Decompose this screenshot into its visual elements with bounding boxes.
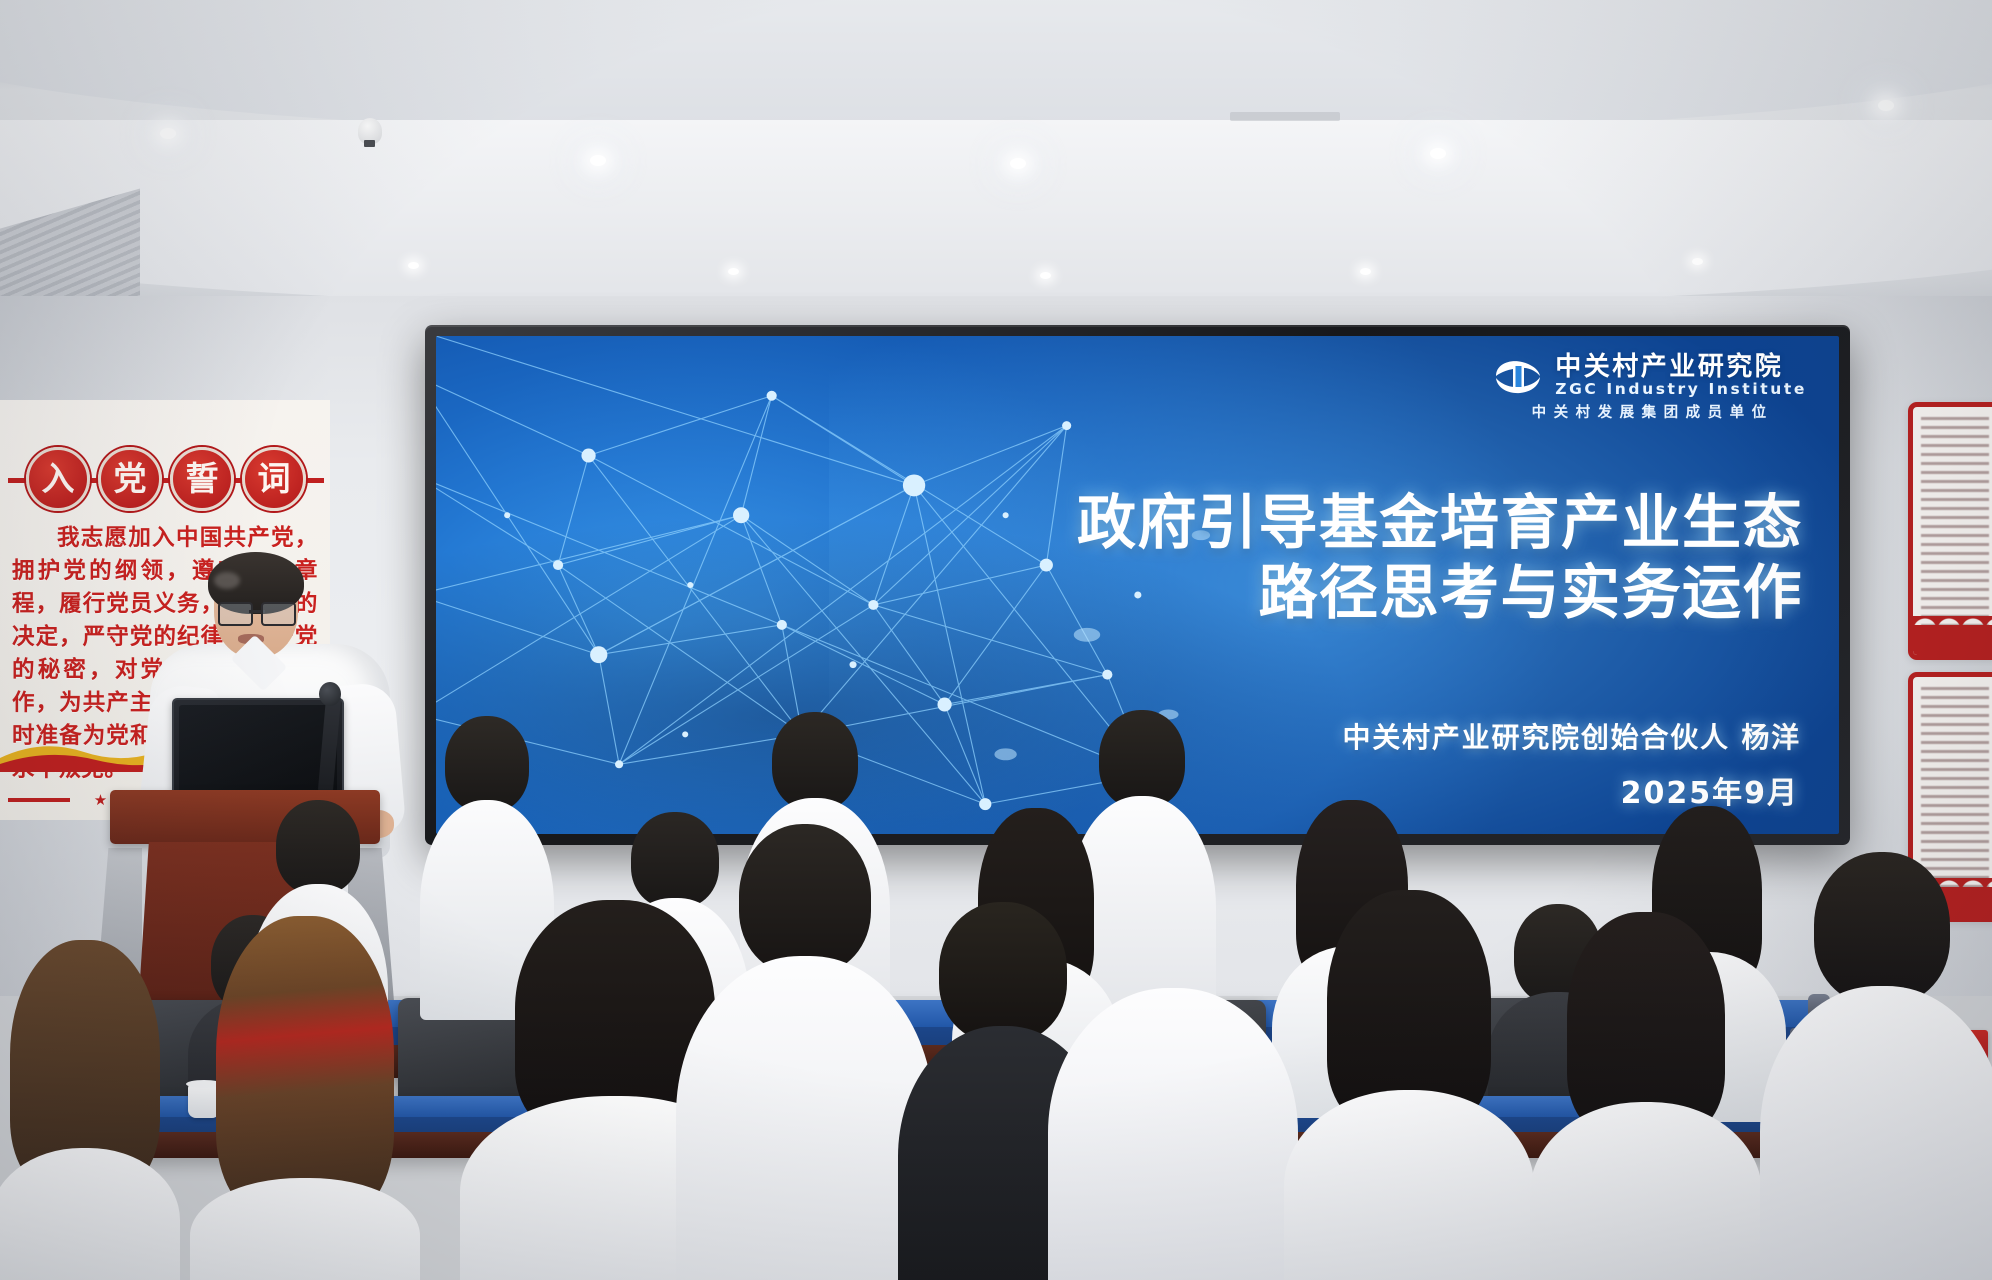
- right-poster-upper: [1908, 402, 1992, 660]
- logo-primary-row: 中关村产业研究院 ZGC Industry Institute: [1492, 354, 1807, 398]
- ceiling-downlight: [1692, 258, 1703, 265]
- ceiling-downlight: [590, 155, 606, 166]
- slide-title-line-1: 政府引导基金培育产业生态: [1077, 488, 1803, 558]
- person-body: [676, 956, 934, 1280]
- person-body: [1284, 1090, 1534, 1280]
- person-body: [190, 1178, 420, 1280]
- ceiling-downlight: [728, 268, 739, 275]
- ceiling-curve-outer: [0, 0, 1992, 140]
- smoke-detector-icon: [358, 118, 382, 144]
- zgc-logo: 中关村产业研究院 ZGC Industry Institute 中关村发展集团成…: [1492, 354, 1807, 422]
- person-body: [1760, 986, 1992, 1280]
- oath-poster-title: 入 党 誓 词: [26, 448, 306, 510]
- ceiling: [0, 0, 1992, 300]
- person-head: [445, 716, 529, 812]
- audience-member-front: [190, 916, 420, 1280]
- ceiling-downlight: [1430, 148, 1446, 159]
- ceiling-downlight: [1040, 272, 1051, 279]
- person-head: [276, 800, 360, 894]
- person-head: [739, 824, 871, 974]
- logo-affiliation: 中关村发展集团成员单位: [1526, 401, 1774, 422]
- person-head: [1106, 856, 1240, 1006]
- ceiling-downlight: [1878, 100, 1894, 111]
- ceiling-downlight: [1010, 158, 1026, 169]
- audience-member-front: [1048, 856, 1298, 1280]
- oath-title-char-4: 词: [242, 447, 306, 511]
- star-icon: ★: [94, 793, 107, 808]
- ceiling-downlight: [1360, 268, 1371, 275]
- person-head: [1814, 852, 1950, 1004]
- poster-text-block: [1921, 417, 1989, 629]
- ceiling-downlight: [408, 262, 419, 269]
- person-hair-long-dyed: [216, 916, 394, 1216]
- ceiling-downlight: [160, 128, 176, 139]
- ceiling-ac-slot: [1230, 112, 1340, 121]
- poster-footer-band: [1913, 625, 1992, 655]
- slide-presenter: 中关村产业研究院创始合伙人 杨洋: [1342, 716, 1801, 756]
- person-head: [772, 712, 858, 810]
- logo-text-block: 中关村产业研究院 ZGC Industry Institute: [1555, 354, 1807, 398]
- oath-title-char-1: 入: [26, 447, 90, 511]
- glasses-icon: [218, 602, 296, 622]
- logo-chinese-name: 中关村产业研究院: [1555, 354, 1807, 380]
- person-head: [1099, 710, 1185, 808]
- person-body: [0, 1148, 180, 1280]
- ceiling-curve-inner: [0, 120, 1992, 310]
- slide-title-line-2: 路径思考与实务运作: [1077, 558, 1803, 628]
- oath-star-bar-left: [8, 798, 70, 802]
- person-body: [1530, 1102, 1762, 1280]
- audience-member-front: [676, 824, 934, 1280]
- microphone-icon[interactable]: [319, 682, 341, 706]
- person-body: [1048, 988, 1298, 1280]
- oath-title-char-3: 誓: [170, 447, 234, 511]
- audience-member-front: [1760, 852, 1992, 1280]
- zgc-logo-mark-icon: [1492, 357, 1544, 395]
- audience-member-front: [1284, 890, 1534, 1280]
- audience-member-front: [1530, 912, 1762, 1280]
- oath-title-char-2: 党: [98, 447, 162, 511]
- logo-english-name: ZGC Industry Institute: [1555, 382, 1807, 398]
- presentation-room-photo: 入 党 誓 词 我志愿加入中国共产党，拥护党的纲领，遵守党的章程，履行党员义务，…: [0, 0, 1992, 1280]
- slide-title: 政府引导基金培育产业生态 路径思考与实务运作: [1077, 488, 1803, 628]
- audience-member-front: [0, 940, 180, 1280]
